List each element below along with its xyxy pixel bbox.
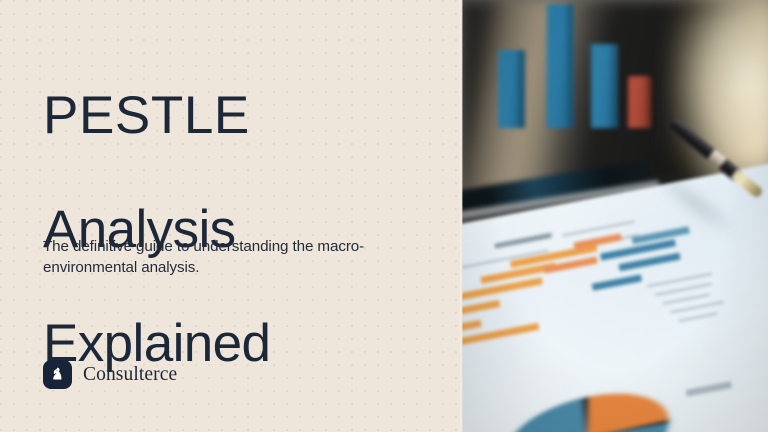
brand-logo: Consulterce xyxy=(43,360,177,389)
page-title-line-1: PESTLE xyxy=(43,87,270,144)
brand-name: Consulterce xyxy=(83,364,177,386)
left-content: PESTLE Analysis Explained The definitive… xyxy=(43,0,443,432)
right-photo-panel xyxy=(460,0,768,432)
page-subtitle: The definitive guide to understanding th… xyxy=(43,236,418,278)
bar-chart-3d xyxy=(468,0,668,128)
left-text-panel: PESTLE Analysis Explained The definitive… xyxy=(0,0,460,432)
bar-3d-1 xyxy=(498,50,525,128)
bar-3d-4 xyxy=(628,76,651,128)
bar-3d-3 xyxy=(591,44,618,128)
chess-knight-icon xyxy=(43,360,72,389)
presentation-slide: PESTLE Analysis Explained The definitive… xyxy=(0,0,768,432)
bar-3d-2 xyxy=(547,4,574,128)
hero-photo xyxy=(460,0,768,432)
panel-seam xyxy=(460,0,463,432)
